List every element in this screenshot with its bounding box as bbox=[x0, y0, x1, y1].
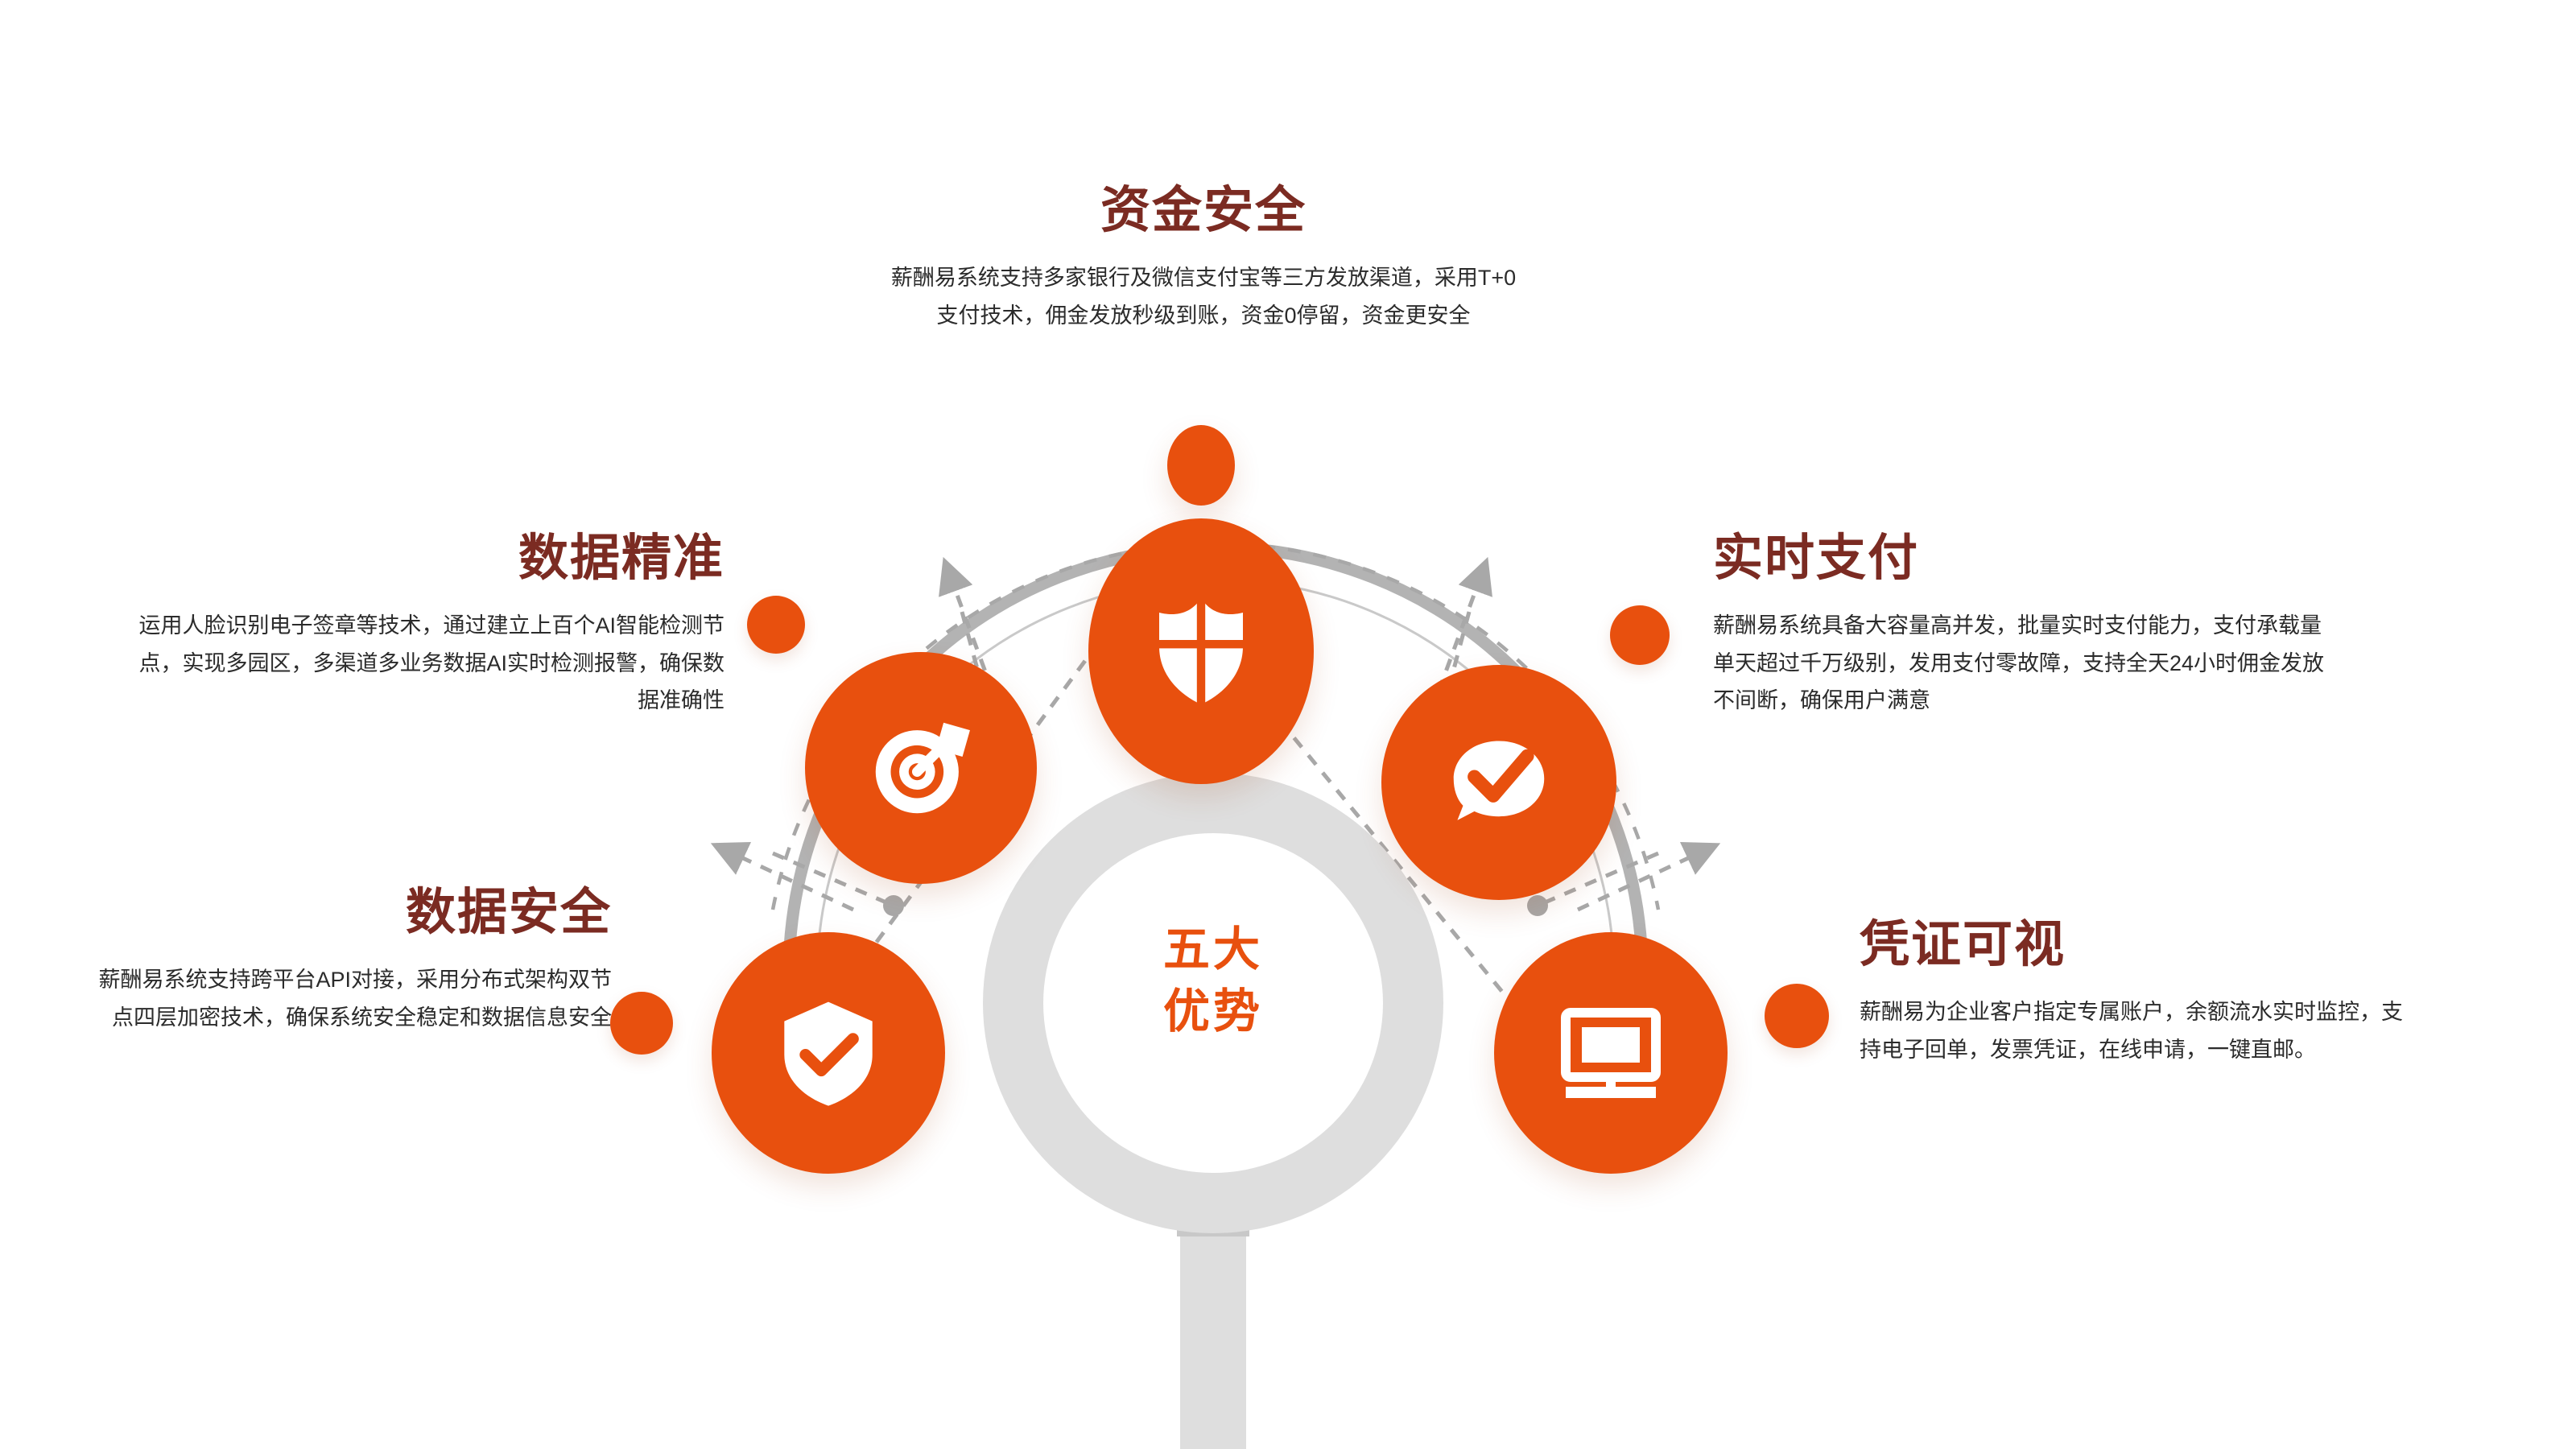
feature-title: 实时支付 bbox=[1713, 531, 2341, 586]
bubble-data-accuracy[interactable] bbox=[805, 652, 1037, 884]
feature-description: 薪酬易系统支持多家银行及微信支付宝等三方发放渠道，采用T+0支付技术，佣金发放秒… bbox=[885, 259, 1521, 334]
feature-description: 薪酬易系统具备大容量高并发，批量实时支付能力，支付承载量单天超过千万级别，发用支… bbox=[1713, 607, 2341, 719]
feature-description: 薪酬易系统支持跨平台API对接，采用分布式架构双节点四层加密技术，确保系统安全稳… bbox=[89, 961, 612, 1036]
accent-dot-upper-left bbox=[747, 596, 805, 654]
feature-title: 资金安全 bbox=[885, 184, 1521, 238]
accent-dot-upper-right bbox=[1610, 605, 1670, 665]
infographic-canvas: 五大 优势 bbox=[0, 0, 2576, 1449]
feature-title: 数据安全 bbox=[89, 885, 612, 940]
center-label: 五大 优势 bbox=[1043, 919, 1383, 1042]
bubble-data-security[interactable] bbox=[712, 932, 945, 1174]
accent-dot-lower-left bbox=[610, 992, 673, 1055]
bubble-funds-security[interactable] bbox=[1088, 518, 1314, 784]
accent-dot-lower-right bbox=[1765, 984, 1829, 1048]
target-dart-icon bbox=[861, 708, 981, 828]
shield-check-icon bbox=[775, 997, 881, 1109]
feature-realtime-payment: 实时支付 薪酬易系统具备大容量高并发，批量实时支付能力，支付承载量单天超过千万级… bbox=[1713, 531, 2341, 720]
shield-cross-icon bbox=[1151, 595, 1251, 708]
feature-title: 数据精准 bbox=[137, 531, 724, 586]
feature-voucher-visible: 凭证可视 薪酬易为企业客户指定专属账户，余额流水实时监控，支持电子回单，发票凭证… bbox=[1860, 918, 2423, 1068]
feature-title: 凭证可视 bbox=[1860, 918, 2423, 972]
feature-description: 运用人脸识别电子签章等技术，通过建立上百个AI智能检测节点，实现多园区，多渠道多… bbox=[137, 607, 724, 719]
feature-data-security: 数据安全 薪酬易系统支持跨平台API对接，采用分布式架构双节点四层加密技术，确保… bbox=[89, 885, 612, 1036]
feature-description: 薪酬易为企业客户指定专属账户，余额流水实时监控，支持电子回单，发票凭证，在线申请… bbox=[1860, 993, 2423, 1068]
bubble-top-marker bbox=[1167, 425, 1235, 506]
feature-data-accuracy: 数据精准 运用人脸识别电子签章等技术，通过建立上百个AI智能检测节点，实现多园区… bbox=[137, 531, 724, 720]
bubble-realtime-payment[interactable] bbox=[1381, 665, 1616, 900]
bubble-voucher-visible[interactable] bbox=[1494, 932, 1728, 1174]
chat-check-icon bbox=[1439, 722, 1559, 843]
monitor-icon bbox=[1556, 1002, 1666, 1104]
feature-funds-security: 资金安全 薪酬易系统支持多家银行及微信支付宝等三方发放渠道，采用T+0支付技术，… bbox=[885, 184, 1521, 334]
